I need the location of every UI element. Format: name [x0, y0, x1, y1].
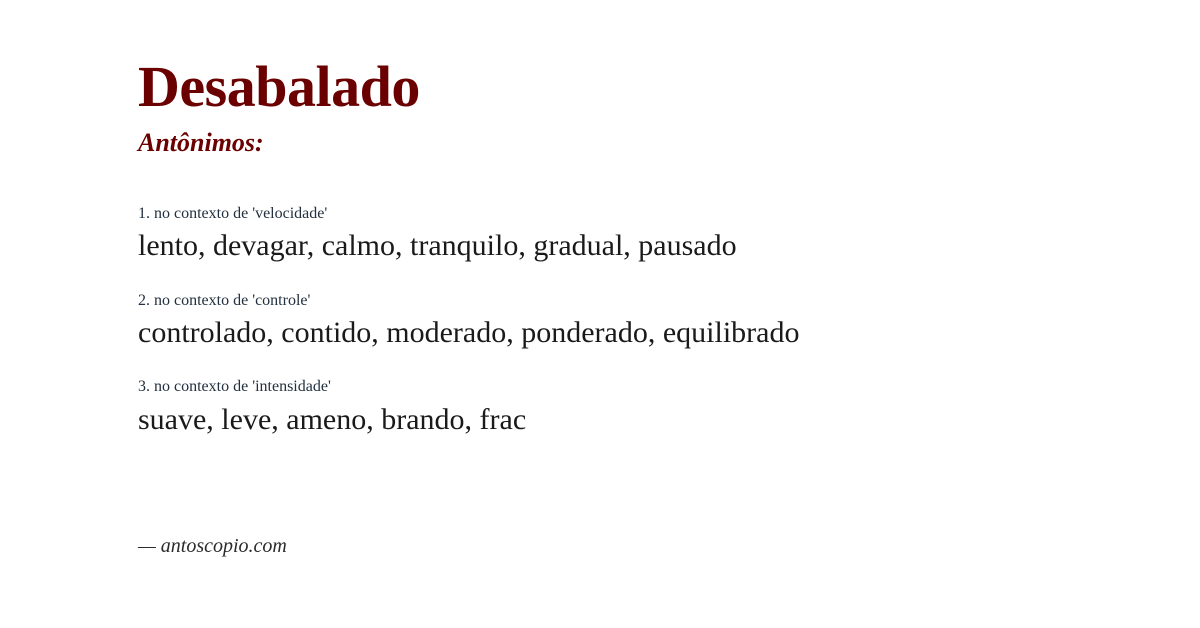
sense-group: 2. no contexto de 'controle' controlado,… [138, 291, 1140, 352]
source-attribution: — antoscopio.com [138, 534, 287, 558]
page-title: Desabalado [138, 58, 1140, 116]
sense-group: 1. no contexto de 'velocidade' lento, de… [138, 204, 1140, 265]
card-header: Desabalado Antônimos: [138, 0, 1140, 156]
card-footer: — antoscopio.com [138, 534, 287, 558]
sense-context-label: 2. no contexto de 'controle' [138, 291, 1140, 310]
sense-terms-list: suave, leve, ameno, brando, frac [138, 401, 1140, 439]
sense-group-list: 1. no contexto de 'velocidade' lento, de… [138, 204, 1140, 438]
section-label-antonyms: Antônimos: [138, 130, 1140, 156]
sense-context-label: 1. no contexto de 'velocidade' [138, 204, 1140, 223]
sense-context-label: 3. no contexto de 'intensidade' [138, 377, 1140, 396]
sense-terms-list: controlado, contido, moderado, ponderado… [138, 314, 1140, 352]
sense-group: 3. no contexto de 'intensidade' suave, l… [138, 377, 1140, 438]
antonyms-card: Desabalado Antônimos: 1. no contexto de … [0, 0, 1200, 628]
sense-terms-list: lento, devagar, calmo, tranquilo, gradua… [138, 227, 1140, 265]
